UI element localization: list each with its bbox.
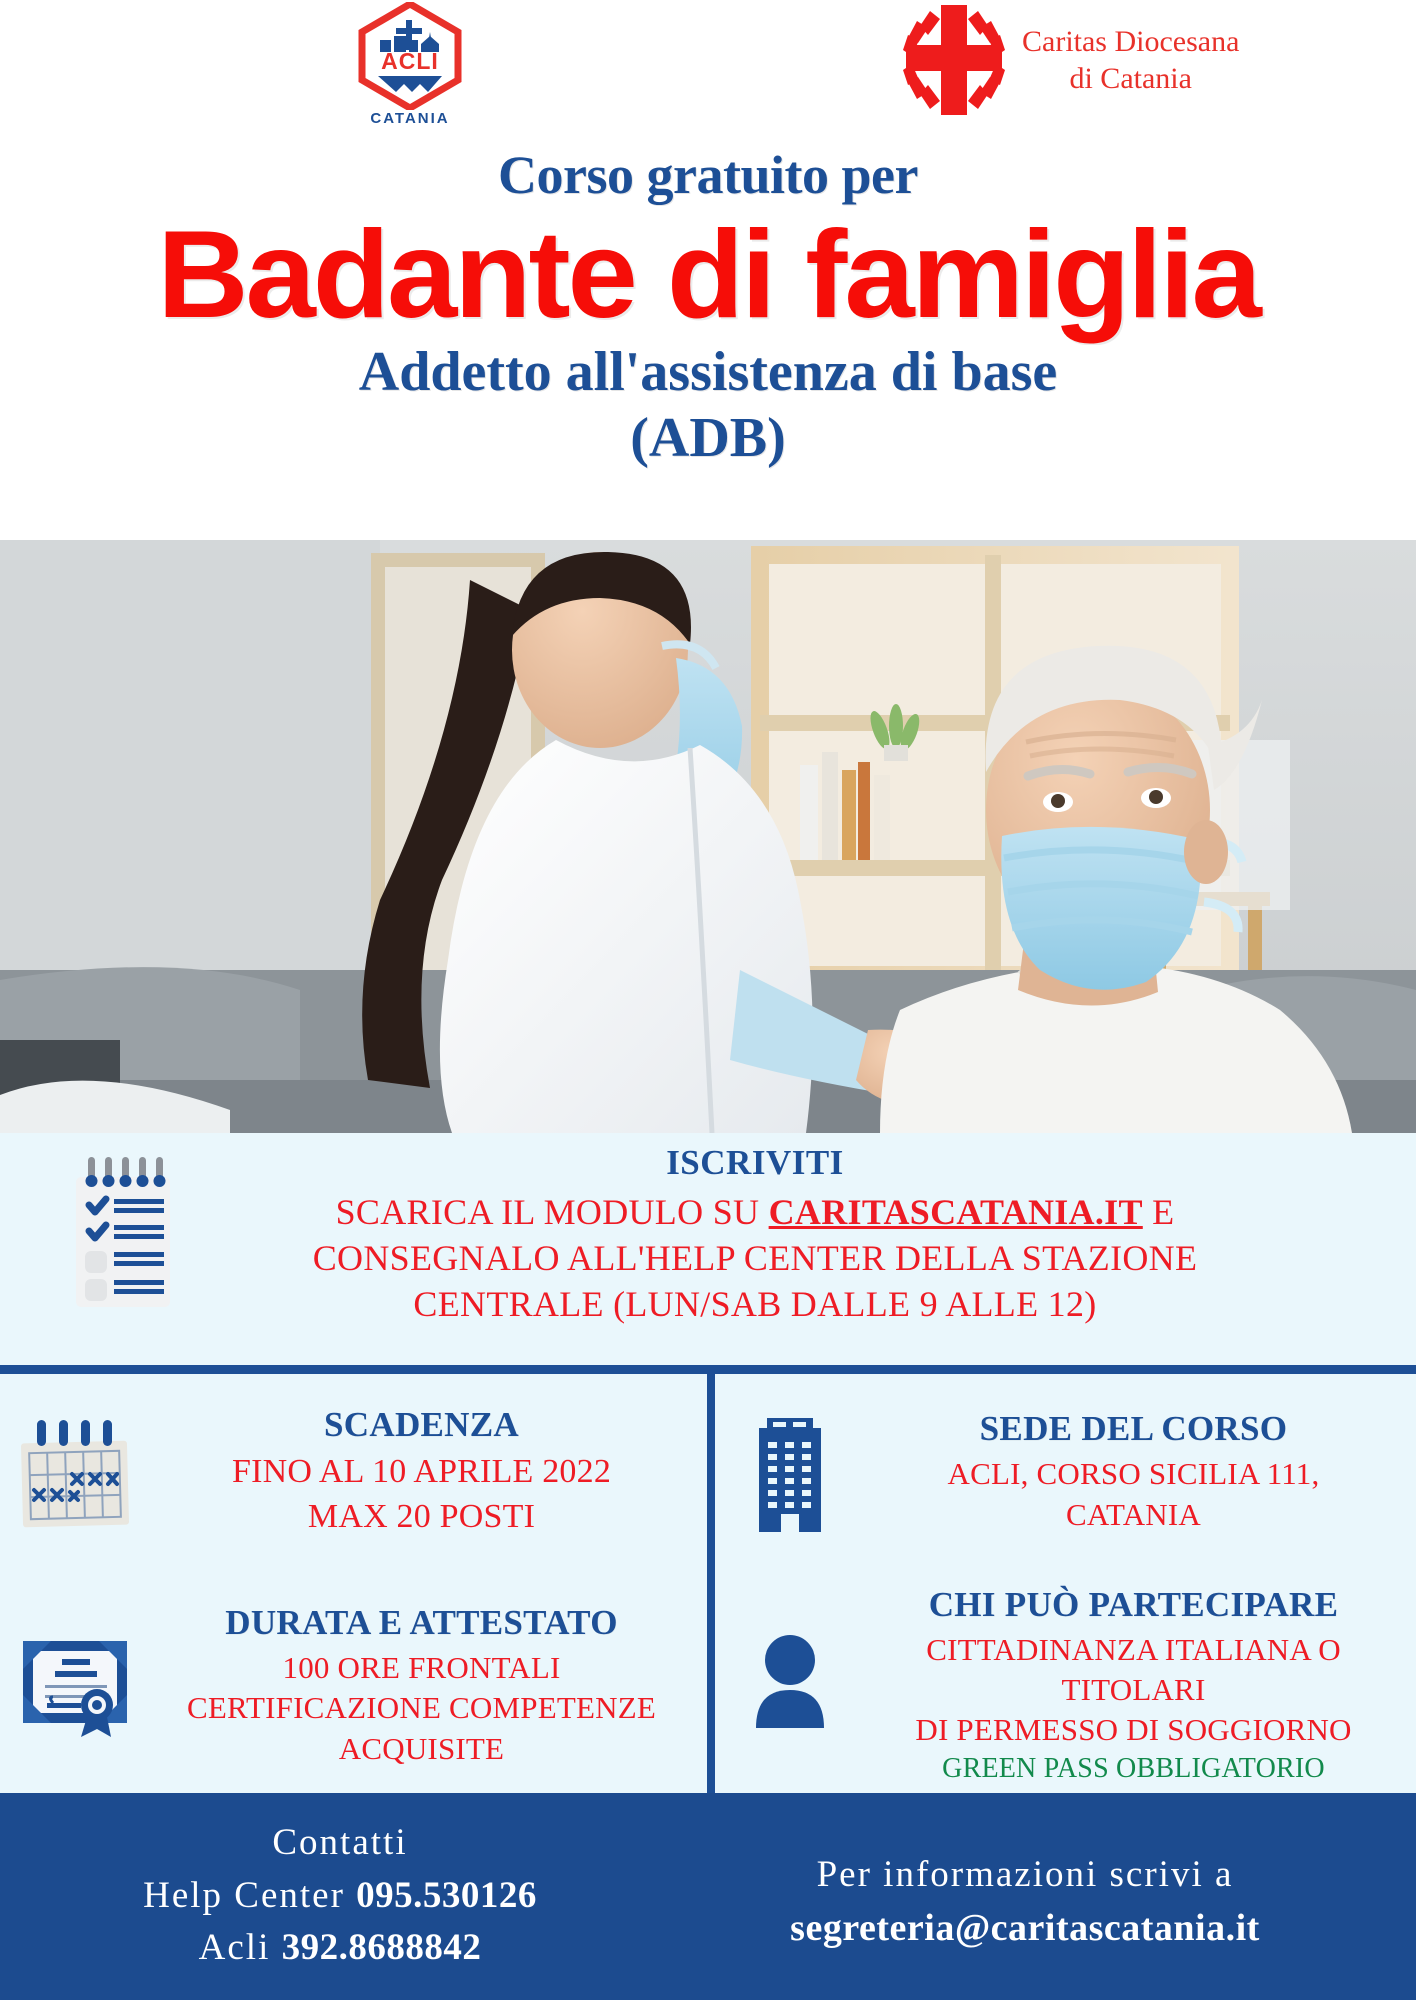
info-cell-sede-text: SEDE DEL CORSO ACLI, CORSO SICILIA 111, … bbox=[865, 1409, 1416, 1535]
info-cell-partecipanti-line-1: DI PERMESSO DI SOGGIORNO bbox=[865, 1710, 1402, 1750]
page-title: Badante di famiglia bbox=[0, 212, 1416, 338]
iscriviti-line-1: SCARICA IL MODULO SU CARITASCATANIA.IT E bbox=[180, 1189, 1330, 1235]
iscriviti-line-3: CENTRALE (LUN/SAB DALLE 9 ALLE 12) bbox=[180, 1281, 1330, 1327]
info-grid: SCADENZA FINO AL 10 APRILE 2022 MAX 20 P… bbox=[0, 1365, 1416, 1793]
iscriviti-line-1-post: E bbox=[1143, 1192, 1175, 1232]
acli-logo-city: CATANIA bbox=[330, 110, 490, 127]
green-pass-note: GREEN PASS OBBLIGATORIO bbox=[865, 1751, 1402, 1787]
acli-contact: Acli 392.8688842 bbox=[40, 1922, 640, 1975]
info-cell-durata-line-2: ACQUISITE bbox=[150, 1729, 693, 1769]
acli-label: Acli bbox=[199, 1927, 282, 1968]
contacts-footer: Contatti Help Center 095.530126 Acli 392… bbox=[0, 1793, 1416, 2000]
contacts-column-left: Contatti Help Center 095.530126 Acli 392… bbox=[40, 1817, 640, 1975]
iscriviti-panel: ISCRIVITI SCARICA IL MODULO SU CARITASCA… bbox=[0, 1133, 1416, 1365]
certificate-icon bbox=[17, 1633, 133, 1739]
info-cell-durata-line-1: CERTIFICAZIONE COMPETENZE bbox=[150, 1688, 693, 1728]
info-label: Per informazioni scrivi a bbox=[680, 1849, 1370, 1902]
info-cell-partecipanti: CHI PUÒ PARTECIPARE CITTADINANZA ITALIAN… bbox=[715, 1579, 1416, 1793]
iscriviti-title: ISCRIVITI bbox=[180, 1143, 1330, 1183]
info-cell-durata-text: DURATA E ATTESTATO 100 ORE FRONTALI CERT… bbox=[150, 1603, 707, 1769]
contact-email[interactable]: segreteria@caritascatania.it bbox=[680, 1902, 1370, 1956]
course-acronym: (ADB) bbox=[0, 406, 1416, 470]
info-cell-durata-heading: DURATA E ATTESTATO bbox=[150, 1603, 693, 1643]
info-cell-scadenza-text: SCADENZA FINO AL 10 APRILE 2022 MAX 20 P… bbox=[150, 1405, 707, 1538]
info-cell-sede-line-0: ACLI, CORSO SICILIA 111, bbox=[865, 1454, 1402, 1494]
info-cell-scadenza-line-1: MAX 20 POSTI bbox=[150, 1495, 693, 1539]
checklist-icon bbox=[68, 1155, 178, 1315]
info-cell-partecipanti-heading: CHI PUÒ PARTECIPARE bbox=[865, 1585, 1402, 1625]
caritascatania-link[interactable]: CARITASCATANIA.IT bbox=[769, 1192, 1143, 1232]
caritas-logo-text: Caritas Diocesana di Catania bbox=[1022, 23, 1239, 98]
caritas-cross-icon bbox=[900, 5, 1008, 115]
logo-bar: ACLI CATANIA bbox=[0, 0, 1416, 140]
help-center-label: Help Center bbox=[143, 1875, 356, 1916]
iscriviti-body: ISCRIVITI SCARICA IL MODULO SU CARITASCA… bbox=[180, 1143, 1330, 1327]
info-cell-durata-line-0: 100 ORE FRONTALI bbox=[150, 1648, 693, 1688]
iscriviti-line-1-pre: SCARICA IL MODULO SU bbox=[336, 1192, 769, 1232]
poster-root: ACLI CATANIA bbox=[0, 0, 1416, 2000]
acli-hexagon-icon: ACLI bbox=[358, 2, 462, 110]
person-icon bbox=[749, 1634, 831, 1738]
grid-divider-vertical bbox=[707, 1365, 715, 1793]
info-cell-sede-line-1: CATANIA bbox=[865, 1495, 1402, 1535]
help-center-phone[interactable]: 095.530126 bbox=[356, 1875, 537, 1916]
course-subtitle: Addetto all'assistenza di base bbox=[0, 340, 1416, 404]
info-cell-sede: SEDE DEL CORSO ACLI, CORSO SICILIA 111, … bbox=[715, 1374, 1416, 1570]
info-cell-partecipanti-text: CHI PUÒ PARTECIPARE CITTADINANZA ITALIAN… bbox=[865, 1585, 1416, 1787]
acli-phone[interactable]: 392.8688842 bbox=[282, 1927, 482, 1968]
iscriviti-line-2: CONSEGNALO ALL'HELP CENTER DELLA STAZION… bbox=[180, 1235, 1330, 1281]
info-cell-partecipanti-line-0: CITTADINANZA ITALIANA O TITOLARI bbox=[865, 1630, 1402, 1711]
calendar-icon-wrap bbox=[0, 1412, 150, 1532]
building-icon bbox=[745, 1408, 835, 1536]
contacts-column-right: Per informazioni scrivi a segreteria@car… bbox=[680, 1849, 1370, 1955]
info-cell-scadenza: SCADENZA FINO AL 10 APRILE 2022 MAX 20 P… bbox=[0, 1374, 707, 1570]
title-block: Corso gratuito per Badante di famiglia A… bbox=[0, 140, 1416, 540]
course-kicker: Corso gratuito per bbox=[0, 144, 1416, 206]
building-icon-wrap bbox=[715, 1408, 865, 1536]
svg-text:ACLI: ACLI bbox=[381, 48, 439, 74]
caritas-logo-line1: Caritas Diocesana bbox=[1022, 23, 1239, 61]
acli-logo: ACLI CATANIA bbox=[330, 2, 490, 137]
info-cell-sede-heading: SEDE DEL CORSO bbox=[865, 1409, 1402, 1449]
person-icon-wrap bbox=[715, 1634, 865, 1738]
info-cell-scadenza-line-0: FINO AL 10 APRILE 2022 bbox=[150, 1450, 693, 1494]
help-center-contact: Help Center 095.530126 bbox=[40, 1870, 640, 1923]
hero-photo-illustration bbox=[0, 540, 1416, 1133]
hero-photo bbox=[0, 540, 1416, 1133]
calendar-icon bbox=[16, 1412, 134, 1532]
caritas-logo: Caritas Diocesana di Catania bbox=[900, 5, 1239, 115]
info-cell-durata: DURATA E ATTESTATO 100 ORE FRONTALI CERT… bbox=[0, 1579, 707, 1793]
info-cell-scadenza-heading: SCADENZA bbox=[150, 1405, 693, 1445]
caritas-logo-line2: di Catania bbox=[1022, 60, 1239, 98]
contacts-label: Contatti bbox=[40, 1817, 640, 1870]
certificate-icon-wrap bbox=[0, 1633, 150, 1739]
